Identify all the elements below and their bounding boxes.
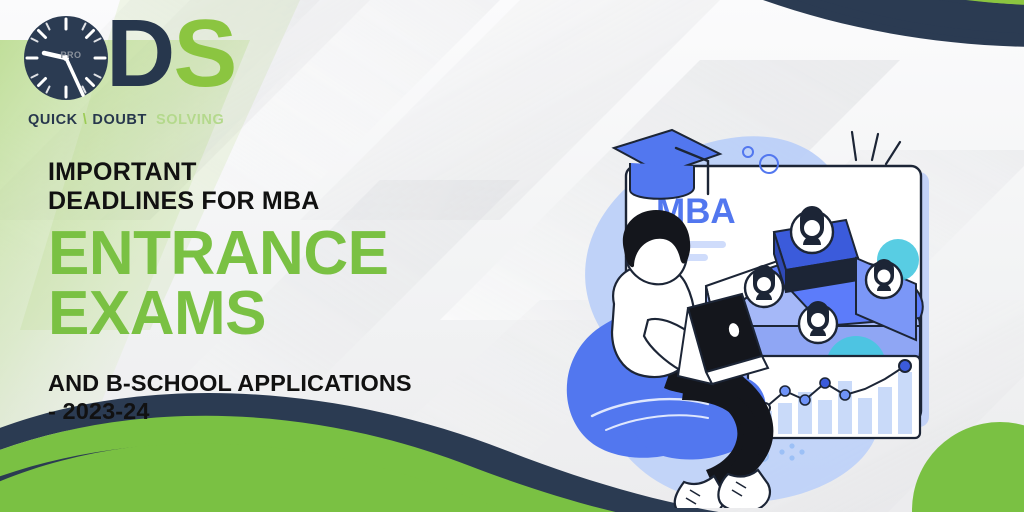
headline-eyebrow: IMPORTANT DEADLINES FOR MBA bbox=[48, 158, 568, 216]
bar-chart-panel bbox=[748, 356, 920, 438]
mba-study-illustration: MBA bbox=[556, 108, 976, 508]
pro-badge: PRO bbox=[51, 50, 91, 60]
banner-graphic: PRO DS QUICK\DOUBTSOLVING IMPORTANT DEAD… bbox=[0, 0, 1024, 512]
tagline-separator: \ bbox=[78, 112, 93, 128]
logo-letter-d: D bbox=[106, 0, 173, 107]
logo-letter-s: S bbox=[173, 0, 235, 107]
sparkle-lines bbox=[852, 132, 900, 164]
brand-tagline: QUICK\DOUBTSOLVING bbox=[28, 112, 224, 128]
headline-subtitle: AND B-SCHOOL APPLICATIONS - 2023-24 bbox=[48, 369, 568, 425]
headline-title: ENTRANCE EXAMS bbox=[48, 224, 568, 343]
logo-wordmark: DS bbox=[106, 6, 235, 102]
brand-logo[interactable]: PRO DS QUICK\DOUBTSOLVING bbox=[18, 8, 258, 130]
tagline-doubt: DOUBT bbox=[92, 112, 147, 128]
tagline-solving: SOLVING bbox=[147, 112, 224, 128]
headline-block: IMPORTANT DEADLINES FOR MBA ENTRANCE EXA… bbox=[48, 158, 568, 425]
tagline-quick: QUICK bbox=[28, 112, 78, 128]
